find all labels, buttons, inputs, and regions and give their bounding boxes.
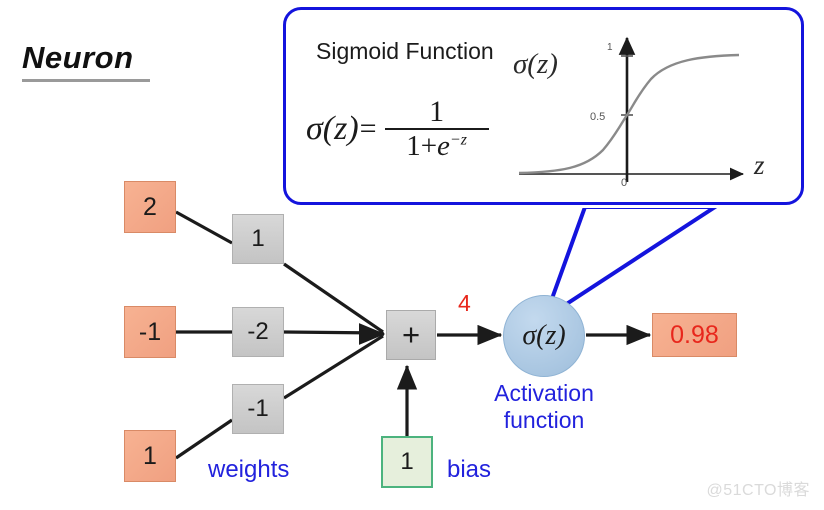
callout-pointer	[545, 207, 715, 318]
plot-tick-label-origin: 0	[621, 177, 627, 189]
sigmoid-callout: Sigmoid Function σ(z) = 1 1+e−z	[283, 7, 804, 205]
input-node-1[interactable]: 2	[124, 181, 176, 233]
weight-node-1[interactable]: 1	[232, 214, 284, 264]
watermark: @51CTO博客	[706, 476, 810, 500]
weights-label: weights	[208, 456, 289, 484]
title-underline	[22, 79, 150, 82]
weight-node-2[interactable]: -2	[232, 307, 284, 357]
edge-weight2-sum	[284, 332, 383, 333]
plot-tick-label-mid: 0.5	[590, 111, 605, 123]
weight-node-3[interactable]: -1	[232, 384, 284, 434]
edge-weight1-sum	[284, 264, 383, 332]
formula-denominator-exponent: −z	[450, 131, 467, 148]
summation-node[interactable]: +	[386, 310, 436, 360]
formula-lhs: σ(z)	[306, 110, 359, 148]
activation-label-line2: function	[466, 407, 622, 434]
input-node-2[interactable]: -1	[124, 306, 176, 358]
edge-input3-weight3	[176, 420, 232, 458]
formula-denominator: 1+e−z	[400, 130, 473, 163]
callout-heading: Sigmoid Function	[316, 38, 494, 65]
activation-label-line1: Activation	[466, 380, 622, 407]
formula-equals: =	[360, 112, 377, 146]
formula-fraction: 1 1+e−z	[385, 96, 489, 162]
sigmoid-formula: σ(z) = 1 1+e−z	[306, 96, 489, 162]
formula-denominator-base: 1+	[406, 130, 437, 162]
activation-node[interactable]: σ(z)	[503, 295, 585, 377]
page-title: Neuron	[22, 42, 157, 82]
page-title-text: Neuron	[22, 42, 157, 73]
formula-numerator: 1	[417, 96, 456, 128]
formula-denominator-e: e	[437, 130, 450, 162]
activation-function-label: Activation function	[466, 380, 622, 434]
neuron-diagram-canvas: Neuron	[0, 0, 824, 510]
plot-y-axis-label: σ(z)	[513, 48, 558, 81]
plot-x-axis-label: z	[754, 150, 765, 181]
output-node[interactable]: 0.98	[652, 313, 737, 357]
plot-tick-label-top: 1	[607, 42, 613, 53]
edge-weight3-sum	[284, 336, 383, 398]
bias-node[interactable]: 1	[381, 436, 433, 488]
sigmoid-plot: σ(z) z 1 0.5 0	[511, 24, 789, 194]
bias-label: bias	[447, 456, 491, 484]
edge-input1-weight1	[176, 212, 232, 243]
summation-result-label: 4	[458, 290, 471, 317]
input-node-3[interactable]: 1	[124, 430, 176, 482]
